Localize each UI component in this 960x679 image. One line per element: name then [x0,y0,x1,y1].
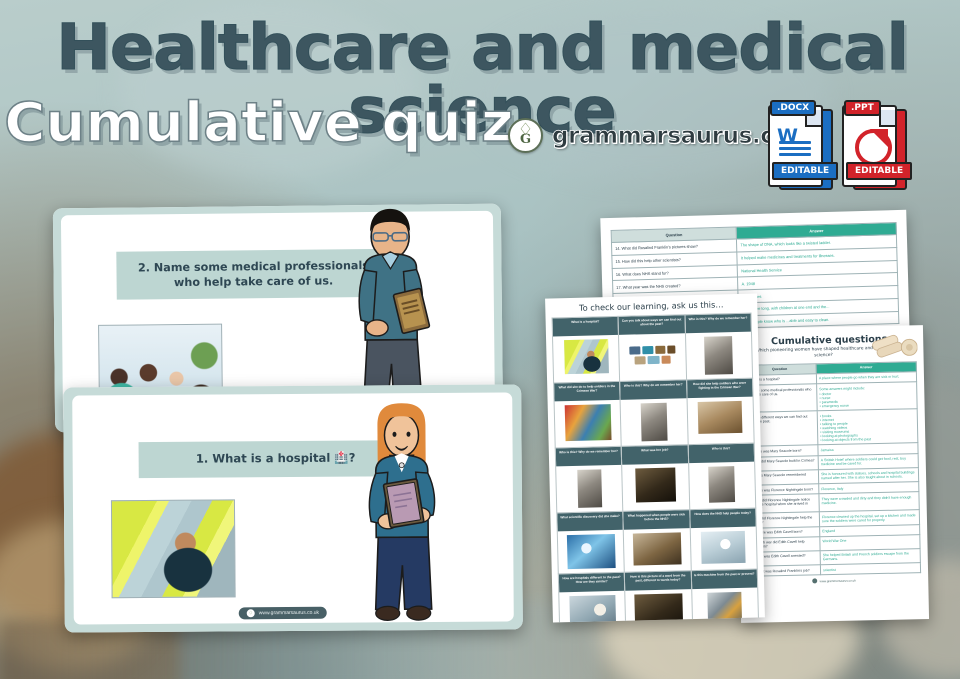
cell-answer: Some answers might include: • doctor • n… [816,382,917,411]
artefact-icon [647,356,659,364]
cumulative-questions-body: 1. What is a hospital? A place where peo… [743,372,920,577]
cell-image [704,336,733,375]
museum-icon [634,356,645,364]
grid-row: What scientific discovery did she make? … [557,508,757,574]
cell-image [633,532,682,565]
ppt-badge: .PPT EDITABLE [842,100,904,186]
cell-image [626,337,679,372]
cumulative-questions-document[interactable]: Cumulative questions Which pioneering wo… [735,325,929,623]
logo-letter: G [520,132,531,147]
cell-image [698,401,743,434]
laptop-icon [629,346,640,354]
cell-image [641,403,668,442]
text-lines-icon [779,141,811,159]
cell-prompt: Who is this? Why do we remember her? [556,447,622,467]
bullet-item: • looking at objects from the past [820,436,915,442]
worksheet-title: To check our learning, ask us this… [551,299,751,314]
grid-cell: Who is this? Why do we remember her? [620,380,688,447]
answer-bullets: • doctor • nurse • paramedic • emergency… [819,390,914,408]
cell-prompt: What scientific discovery did she make? [557,512,623,532]
slide-footer-text: www.grammarsaurus.co.uk [259,610,319,616]
docx-badge: W .DOCX EDITABLE [768,100,830,186]
cell-prompt: What did she do to help soldiers in the … [554,382,620,402]
page-title-line2: Cumulative quiz [4,96,513,150]
slide-photo-paramedic [111,499,236,598]
cumulative-questions-table: Question Answer 1. What is a hospital? A… [743,361,921,577]
grid-cell: Who is this? Why do we remember her? [555,446,623,513]
page-fold-icon [879,110,896,127]
table-row: 3. Name different ways we can find out a… [744,409,918,447]
table-row: 2. Name some medical professionals who h… [744,382,918,413]
people-icon [661,356,670,364]
cell-prompt: Can you talk about ways we can find out … [619,315,685,335]
grid-row: Who is this? Why do we remember her? Wha… [555,443,756,513]
table-row: 13. What was Rosalind Franklin's job? sc… [747,563,920,577]
docx-ext-label: .DOCX [770,100,816,116]
grid-cell: How did she help soldiers who were fight… [686,378,754,445]
cell-image [634,593,683,622]
tv-icon [642,346,653,354]
doc-footer-text: www.grammarsaurus.co.uk [820,578,856,583]
grid-cell: Who is this? [688,443,756,510]
grid-row: What is a hospital? Can you talk about w… [552,313,753,383]
character-female-teacher [357,401,449,634]
cell-prompt: What was her job? [622,445,688,465]
grammarsaurus-logo-icon: ♢ G [508,118,543,153]
grid-cell: How are hospitals different to the past?… [558,572,626,622]
cell-answer: They were crowded and dirty and they did… [819,492,920,512]
grid-row: How are hospitals different to the past?… [558,569,758,623]
ppt-editable-label: EDITABLE [846,162,912,180]
old-book-icon [667,345,675,353]
cell-image [567,534,616,569]
answer-bullets: • books • internet • talking to people •… [820,412,915,442]
slide-footer-1: ♢ www.grammarsaurus.co.uk [239,607,327,620]
cell-image [709,466,736,503]
cell-image [635,468,676,503]
cell-prompt: How is this picture of a ward from the p… [625,571,691,591]
grid-cell: What did she do to help soldiers in the … [554,381,622,448]
grid-cell: What scientific discovery did she make? [557,511,625,574]
grid-cell: What was her job? [622,445,690,512]
cell-prompt: Who is this? [688,444,754,464]
female-teacher-illustration [357,401,449,634]
grammarsaurus-logo-icon [813,579,818,584]
cell-image [564,339,609,374]
page-header: Healthcare and medical science Cumulativ… [0,0,960,186]
cell-image [701,531,746,564]
cell-prompt: How did she help soldiers who were fight… [687,379,753,399]
cell-image [577,469,602,508]
grid-cell: How is this picture of a ward from the p… [625,571,693,623]
grid-cell: What happened when people were sick befo… [623,510,691,573]
bullet-item: • emergency nurse [820,402,915,408]
grid-cell: Who is this? Why do we remember her? [685,313,753,380]
bandage-illustration-icon [871,331,918,358]
cell-image [708,592,743,623]
cell-prompt: What is a hospital? [553,317,619,337]
grid-cell: What is a hospital? [552,316,620,383]
cell-image [569,595,616,623]
cell-prompt: Is this machine from the past or present… [691,570,757,590]
cell-prompt: How does the NHS help people today? [690,509,756,529]
check-our-learning-worksheet[interactable]: To check our learning, ask us this… What… [545,293,765,622]
cell-prompt: Who is this? Why do we remember her? [620,380,686,400]
book-icon [655,346,665,354]
file-format-badges: W .DOCX EDITABLE .PPT EDITABLE [768,100,904,186]
cell-prompt: What happened when people were sick befo… [624,510,690,530]
ppt-ext-label: .PPT [844,100,881,116]
grid-row: What did she do to help soldiers in the … [554,378,755,448]
cell-answer: scientist [820,563,921,575]
grid-cell: How does the NHS help people today? [689,508,757,571]
cell-answer: • books • internet • talking to people •… [817,409,918,445]
cell-image [564,404,611,441]
prompt-grid-table: What is a hospital? Can you talk about w… [552,313,760,623]
pie-chart-icon [855,129,892,166]
grid-cell: Is this machine from the past or present… [691,569,759,623]
cell-prompt: How are hospitals different to the past?… [559,573,625,593]
docx-editable-label: EDITABLE [772,162,838,180]
cell-prompt: Who is this? Why do we remember her? [685,314,751,334]
grammarsaurus-logo-icon: ♢ [247,609,255,617]
slide-question-1[interactable]: 1. What is a hospital 🏥? ♢ www.grammarsa… [63,384,523,632]
grid-cell: Can you talk about ways we can find out … [618,315,686,382]
